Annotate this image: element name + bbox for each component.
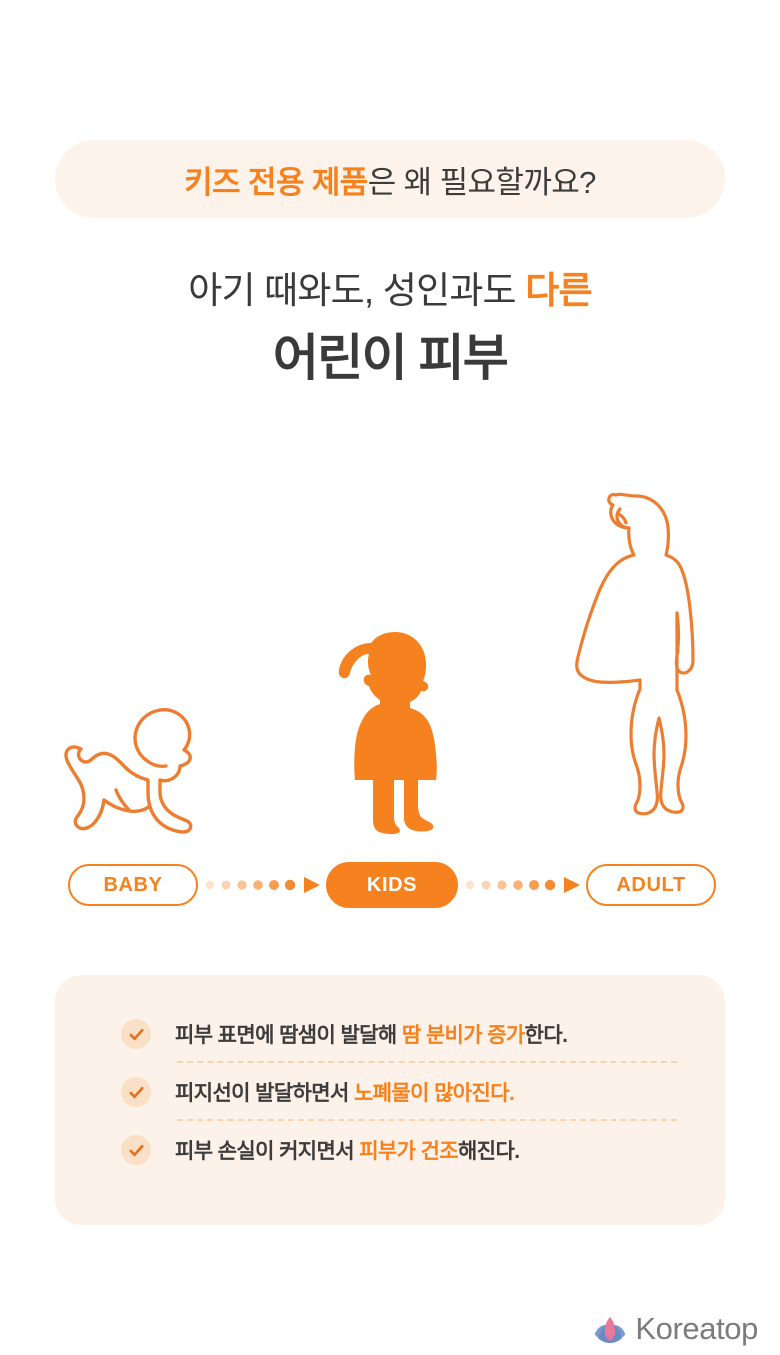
arrow-kids-to-adult <box>462 876 582 894</box>
headline-line-1: 아기 때와도, 성인과도 다른 <box>0 268 780 314</box>
fact-prefix: 피지선이 발달하면서 <box>175 1082 354 1105</box>
infographic-page: 키즈 전용 제품은 왜 필요할까요? 아기 때와도, 성인과도 다른 어린이 피… <box>0 0 780 1355</box>
headline-line-1-highlight: 다른 <box>525 270 591 311</box>
brand-name: Koreatop <box>635 1311 758 1347</box>
header-question-rest: 은 왜 필요할까요? <box>368 165 596 200</box>
list-item: 피부 손실이 커지면서 피부가 건조해진다. <box>121 1121 681 1179</box>
skin-facts-card: 피부 표면에 땀샘이 발달해 땀 분비가 증가한다. 피지선이 발달하면서 노폐… <box>55 975 725 1225</box>
check-icon <box>121 1019 151 1049</box>
stage-pill-kids-label: KIDS <box>367 874 417 897</box>
brand-logo: Koreatop <box>592 1308 758 1350</box>
list-item: 피부 표면에 땀샘이 발달해 땀 분비가 증가한다. <box>121 1005 681 1063</box>
fact-highlight: 노폐물이 많아진다. <box>354 1082 514 1105</box>
fact-prefix: 피부 손실이 커지면서 <box>175 1140 359 1163</box>
arrow-baby-to-kids <box>202 876 322 894</box>
header-question-pill: 키즈 전용 제품은 왜 필요할까요? <box>55 140 725 218</box>
stage-pill-baby-label: BABY <box>103 874 162 897</box>
fact-text: 피부 표면에 땀샘이 발달해 땀 분비가 증가한다. <box>175 1019 567 1049</box>
list-item: 피지선이 발달하면서 노폐물이 많아진다. <box>121 1063 681 1121</box>
stage-pill-kids[interactable]: KIDS <box>326 862 458 908</box>
crawling-baby-icon <box>60 700 220 835</box>
header-question-highlight: 키즈 전용 제품 <box>184 165 368 200</box>
fact-suffix: 해진다. <box>458 1140 519 1163</box>
fact-text: 피지선이 발달하면서 노폐물이 많아진다. <box>175 1077 514 1107</box>
fact-highlight: 땀 분비가 증가 <box>402 1024 525 1047</box>
growth-stage-figures <box>0 470 780 835</box>
check-icon <box>121 1077 151 1107</box>
fact-text: 피부 손실이 커지면서 피부가 건조해진다. <box>175 1135 519 1165</box>
headline-line-2: 어린이 피부 <box>0 328 780 388</box>
fact-suffix: 한다. <box>525 1024 568 1047</box>
stage-pill-adult-label: ADULT <box>616 874 685 897</box>
header-question-text: 키즈 전용 제품은 왜 필요할까요? <box>184 157 596 202</box>
stage-pill-row: BABY KIDS <box>68 862 716 908</box>
stage-pill-adult[interactable]: ADULT <box>586 864 716 906</box>
standing-woman-icon <box>558 490 708 835</box>
stage-pill-baby[interactable]: BABY <box>68 864 198 906</box>
lotus-icon <box>592 1314 628 1345</box>
fact-highlight: 피부가 건조 <box>359 1140 458 1163</box>
check-icon <box>121 1135 151 1165</box>
standing-girl-icon <box>332 630 450 835</box>
headline-line-1-prefix: 아기 때와도, 성인과도 <box>188 270 525 311</box>
page-title: 아기 때와도, 성인과도 다른 어린이 피부 <box>0 268 780 388</box>
fact-prefix: 피부 표면에 땀샘이 발달해 <box>175 1024 402 1047</box>
